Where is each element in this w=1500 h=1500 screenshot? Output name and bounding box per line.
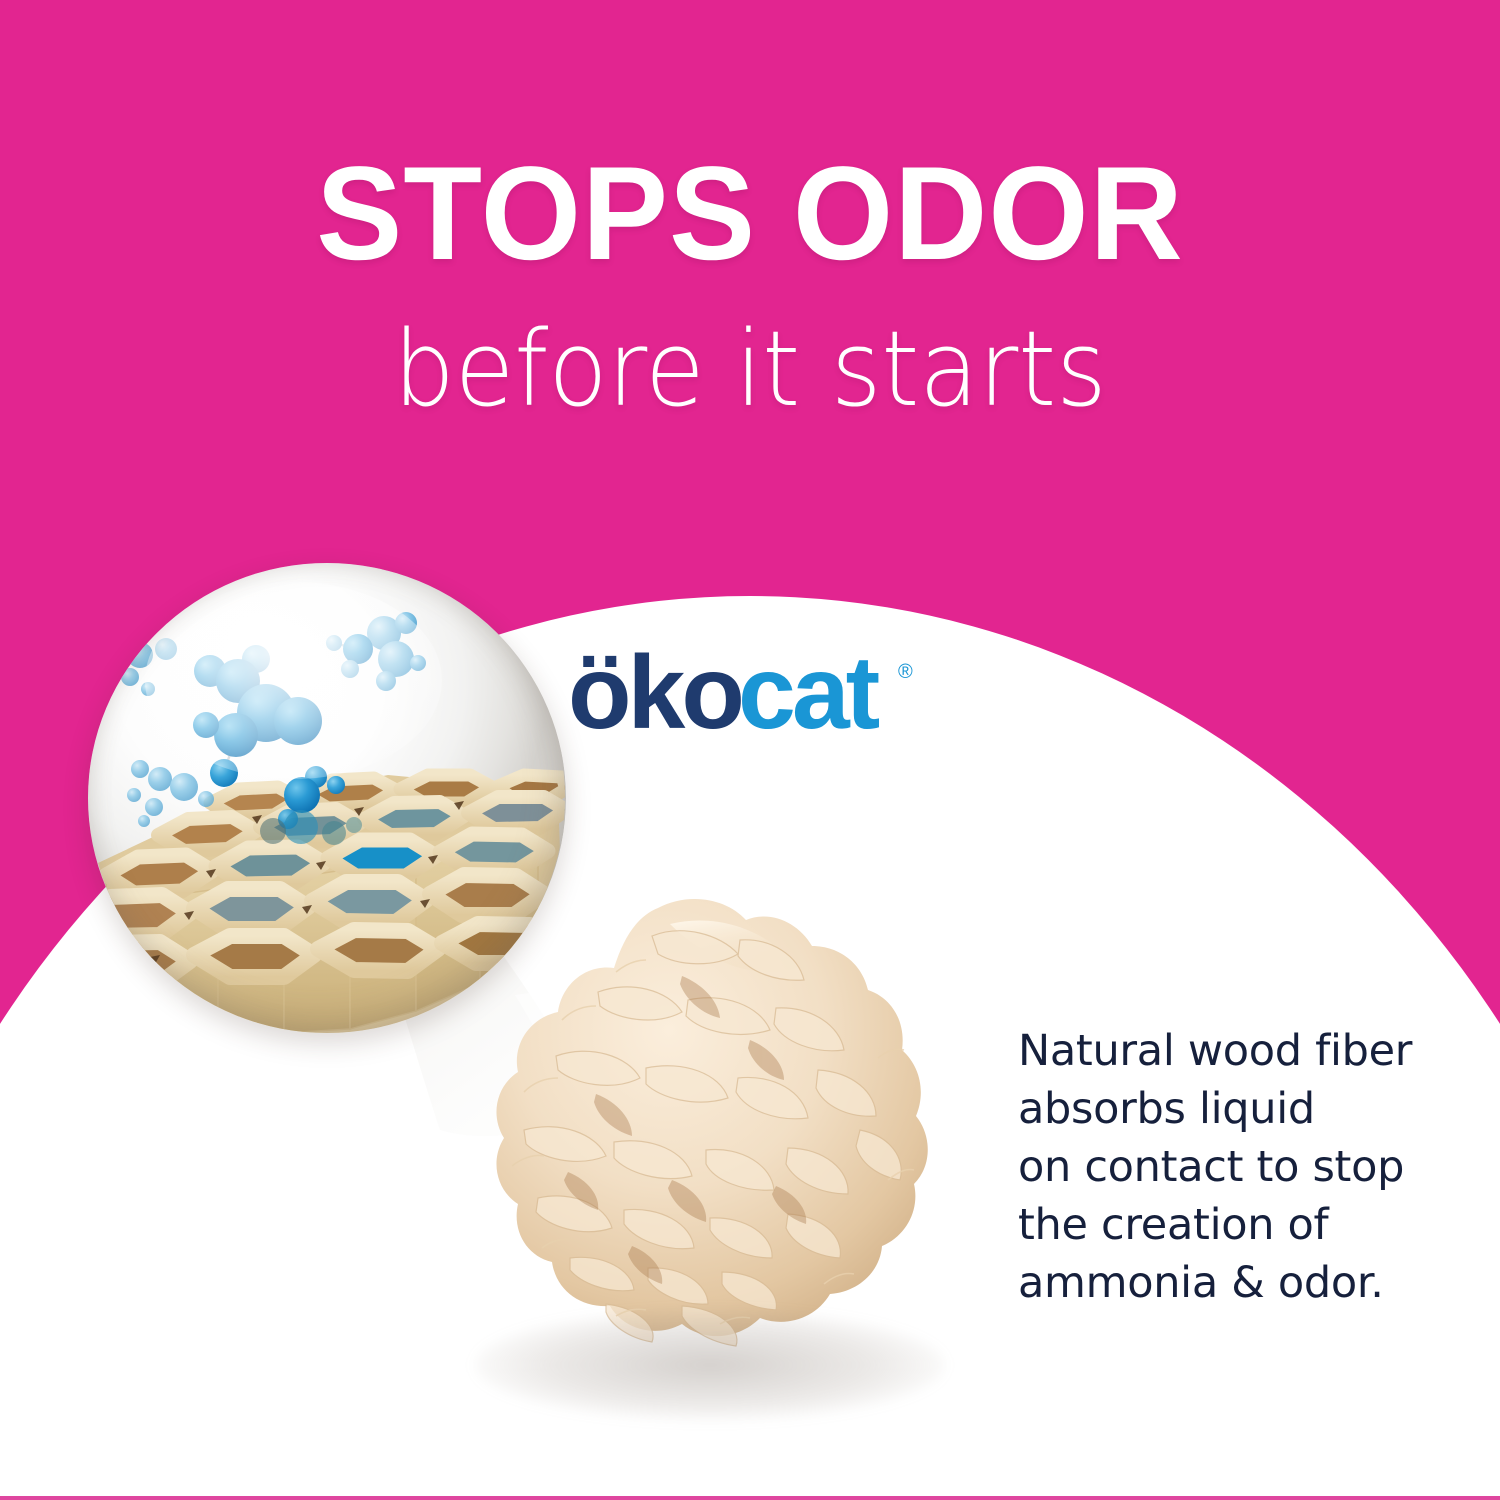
- body-line-5: ammonia & odor.: [1018, 1254, 1448, 1312]
- body-line-2: absorbs liquid: [1018, 1080, 1448, 1138]
- okocat-logo: öko cat ®: [568, 636, 938, 756]
- body-line-3: on contact to stop: [1018, 1138, 1448, 1196]
- magnifier-bubble: [88, 563, 566, 1033]
- body-line-1: Natural wood fiber: [1018, 1022, 1448, 1080]
- body-line-4: the creation of: [1018, 1196, 1448, 1254]
- registered-trademark-icon: ®: [898, 661, 913, 683]
- logo-cat-text: cat: [738, 636, 880, 751]
- clump-shadow: [475, 1310, 945, 1420]
- bottom-pink-rule: [0, 1496, 1500, 1500]
- marketing-image: STOPS ODOR before it starts: [0, 0, 1500, 1500]
- body-copy: Natural wood fiber absorbs liquid on con…: [1018, 1022, 1448, 1312]
- logo-oko-text: öko: [568, 636, 741, 751]
